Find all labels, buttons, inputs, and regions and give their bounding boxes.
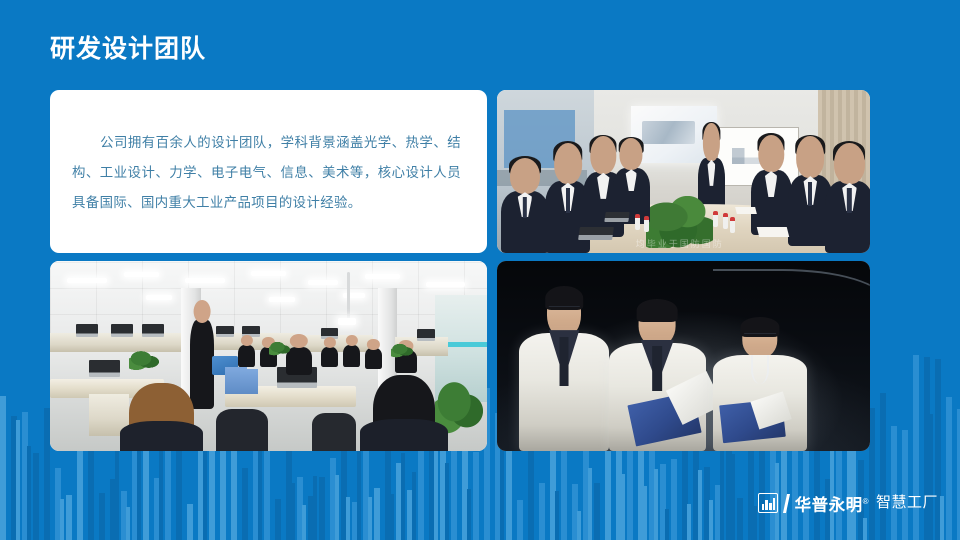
- decor-bar: [594, 483, 600, 540]
- brand-name: 华普永明®: [795, 492, 869, 516]
- decor-bar: [621, 474, 625, 540]
- pendant-light: [347, 272, 350, 321]
- brand-name-text: 华普永明: [795, 496, 863, 514]
- decor-bar: [121, 491, 127, 540]
- decor-bar: [154, 478, 160, 540]
- decor-bar: [660, 464, 666, 540]
- worker-face: [367, 339, 379, 349]
- workstation-partition: [303, 335, 373, 352]
- standing-worker: [190, 320, 214, 409]
- monitor: [417, 329, 434, 340]
- ceiling-light: [67, 278, 106, 283]
- monitor: [111, 324, 133, 337]
- presenter-shirt: [708, 160, 716, 186]
- decor-bar: [368, 497, 372, 540]
- presenter-head: [703, 123, 719, 161]
- monitor: [216, 326, 233, 337]
- decor-bar: [671, 459, 677, 540]
- decor-bar: [390, 494, 394, 540]
- office-plant: [129, 350, 160, 371]
- attendee-tie: [566, 188, 570, 212]
- decor-bar: [473, 452, 479, 540]
- bar-chart-logo-icon: [758, 493, 778, 513]
- decor-bar: [330, 458, 336, 540]
- decor-bar: [346, 497, 350, 540]
- attendee-left-1: [501, 191, 549, 253]
- description-card: 公司拥有百余人的设计团队，学科背景涵盖光学、热学、结构、工业设计、力学、电子电气…: [50, 90, 487, 253]
- decor-bar: [880, 393, 886, 540]
- decor-bar: [335, 475, 339, 540]
- open-office-image: [50, 261, 487, 451]
- page-title: 研发设计团队: [50, 34, 206, 64]
- decor-bar: [753, 506, 757, 540]
- decor-bar: [709, 500, 713, 540]
- ceiling-light: [146, 295, 172, 300]
- ceiling-light: [343, 293, 365, 298]
- glasses-icon: [744, 333, 776, 338]
- decor-bar: [445, 463, 449, 540]
- decor-bar: [704, 467, 710, 540]
- worker-face: [193, 300, 210, 323]
- brand-registered-mark: ®: [863, 497, 869, 506]
- water-bottle: [730, 217, 735, 233]
- content-grid: 公司拥有百余人的设计团队，学科背景涵盖光学、热学、结构、工业设计、力学、电子电气…: [50, 90, 870, 451]
- decor-bar: [319, 477, 325, 540]
- attendee-head: [554, 143, 582, 185]
- water-bottle: [635, 214, 640, 230]
- decor-bar: [687, 504, 691, 540]
- photo-lab-team: [497, 261, 870, 451]
- monitor: [76, 324, 98, 337]
- decor-bar: [16, 420, 20, 540]
- attendee-tie: [808, 182, 812, 206]
- office-chair: [216, 409, 268, 451]
- decor-bar: [242, 468, 248, 540]
- attendee-head: [591, 136, 616, 174]
- decor-bar: [467, 489, 471, 540]
- decor-bar: [902, 430, 908, 540]
- attendee-head: [796, 136, 824, 178]
- office-plant: [391, 343, 413, 358]
- attendee-right-3: [825, 181, 870, 253]
- decor-bar: [297, 477, 303, 540]
- decor-bar: [555, 491, 559, 540]
- attendee-shirt: [626, 169, 637, 191]
- necktie: [560, 337, 569, 386]
- decor-bar: [401, 453, 405, 540]
- photo-watermark: 均毕业于国防国防: [564, 237, 795, 250]
- necktie: [653, 346, 663, 391]
- file-folder: [240, 369, 257, 394]
- decor-bar: [308, 496, 314, 540]
- decor-bar: [302, 505, 306, 540]
- glasses-icon: [549, 306, 579, 313]
- water-bottle: [644, 216, 649, 232]
- photo-meeting-room: 均毕业于国防国防: [497, 90, 870, 253]
- decor-bar: [720, 447, 724, 540]
- ceiling-light: [426, 282, 465, 287]
- decor-bar: [731, 454, 735, 540]
- ceiling-light: [308, 280, 339, 285]
- ceiling-light: [185, 278, 224, 283]
- water-bottle: [713, 211, 718, 227]
- ceiling-light: [269, 297, 295, 302]
- decor-bar: [0, 396, 6, 540]
- document-sheet: [757, 227, 789, 237]
- engineer-left: [519, 288, 609, 451]
- engineer-hair: [637, 299, 678, 322]
- attendee-shirt: [597, 173, 609, 199]
- decor-bar: [539, 483, 545, 540]
- decor-bar: [99, 493, 105, 540]
- brand-sub-name: 智慧工厂: [876, 493, 938, 513]
- decor-bar: [291, 483, 295, 540]
- decor-bar: [737, 498, 743, 540]
- decor-bar: [863, 518, 867, 540]
- office-worker: [365, 348, 382, 369]
- decor-bar: [654, 469, 658, 540]
- brand-logo: 华普永明® 智慧工厂: [758, 492, 938, 516]
- attendee-head: [510, 158, 540, 194]
- decor-bar: [374, 488, 380, 540]
- meeting-room-image: 均毕业于国防国防: [497, 90, 870, 253]
- decor-bar: [110, 479, 116, 540]
- foreground-worker-right-body: [360, 419, 447, 451]
- decor-bar: [275, 499, 281, 540]
- decor-bar: [929, 414, 933, 540]
- overhead-cable: [713, 269, 870, 322]
- attendee-right-1: [751, 170, 792, 235]
- decor-bar: [588, 468, 592, 540]
- decor-bar: [407, 490, 413, 540]
- decor-bar: [698, 470, 702, 540]
- slide-root: 研发设计团队 公司拥有百余人的设计团队，学科背景涵盖光学、热学、结构、工业设计、…: [0, 0, 960, 540]
- office-chair: [312, 413, 356, 451]
- decor-bar: [313, 476, 317, 540]
- decor-bar: [126, 507, 130, 540]
- water-bottle: [723, 213, 728, 229]
- attendee-head: [834, 143, 864, 185]
- office-worker: [343, 345, 360, 368]
- ceiling-light: [124, 272, 159, 277]
- decor-bar: [352, 502, 358, 540]
- lab-team-image: [497, 261, 870, 451]
- decor-bar: [55, 468, 61, 540]
- decor-bar: [396, 463, 402, 540]
- ceiling-light: [365, 274, 400, 279]
- photo-open-office: [50, 261, 487, 451]
- decor-bar: [517, 500, 523, 540]
- decor-bar: [66, 495, 72, 540]
- description-paragraph: 公司拥有百余人的设计团队，学科背景涵盖光学、热学、结构、工业设计、力学、电子电气…: [72, 128, 461, 218]
- decor-bar: [891, 426, 897, 540]
- decor-bar: [572, 484, 578, 540]
- office-worker: [321, 347, 338, 368]
- office-plant: [269, 341, 291, 356]
- attendee-shirt: [765, 171, 777, 197]
- logo-divider: [783, 494, 790, 513]
- laptop-screen: [89, 360, 120, 377]
- attendee-tie: [847, 188, 851, 212]
- foreground-worker-left-body: [120, 421, 203, 451]
- attendee-head: [620, 138, 643, 170]
- ceiling-light: [251, 271, 286, 276]
- document-sheet: [735, 207, 757, 214]
- office-worker: [238, 345, 255, 368]
- decor-bar: [60, 499, 64, 540]
- decor-bar: [946, 397, 952, 540]
- decor-bar: [577, 511, 581, 540]
- decor-bar: [715, 485, 721, 540]
- decor-bar: [27, 446, 31, 540]
- attendee-head: [758, 135, 783, 173]
- decor-bar: [33, 453, 39, 540]
- decor-bar: [341, 446, 347, 540]
- decor-bar: [665, 509, 669, 540]
- attendee-tie: [523, 197, 527, 218]
- monitor: [142, 324, 164, 337]
- decor-bar: [643, 486, 647, 540]
- pendant-light-head: [338, 318, 355, 325]
- decor-bar: [940, 496, 944, 540]
- decor-bar: [187, 504, 193, 540]
- decor-bar: [412, 472, 416, 540]
- decor-bar: [11, 416, 17, 540]
- decor-bar: [22, 412, 28, 540]
- laptop: [604, 212, 629, 222]
